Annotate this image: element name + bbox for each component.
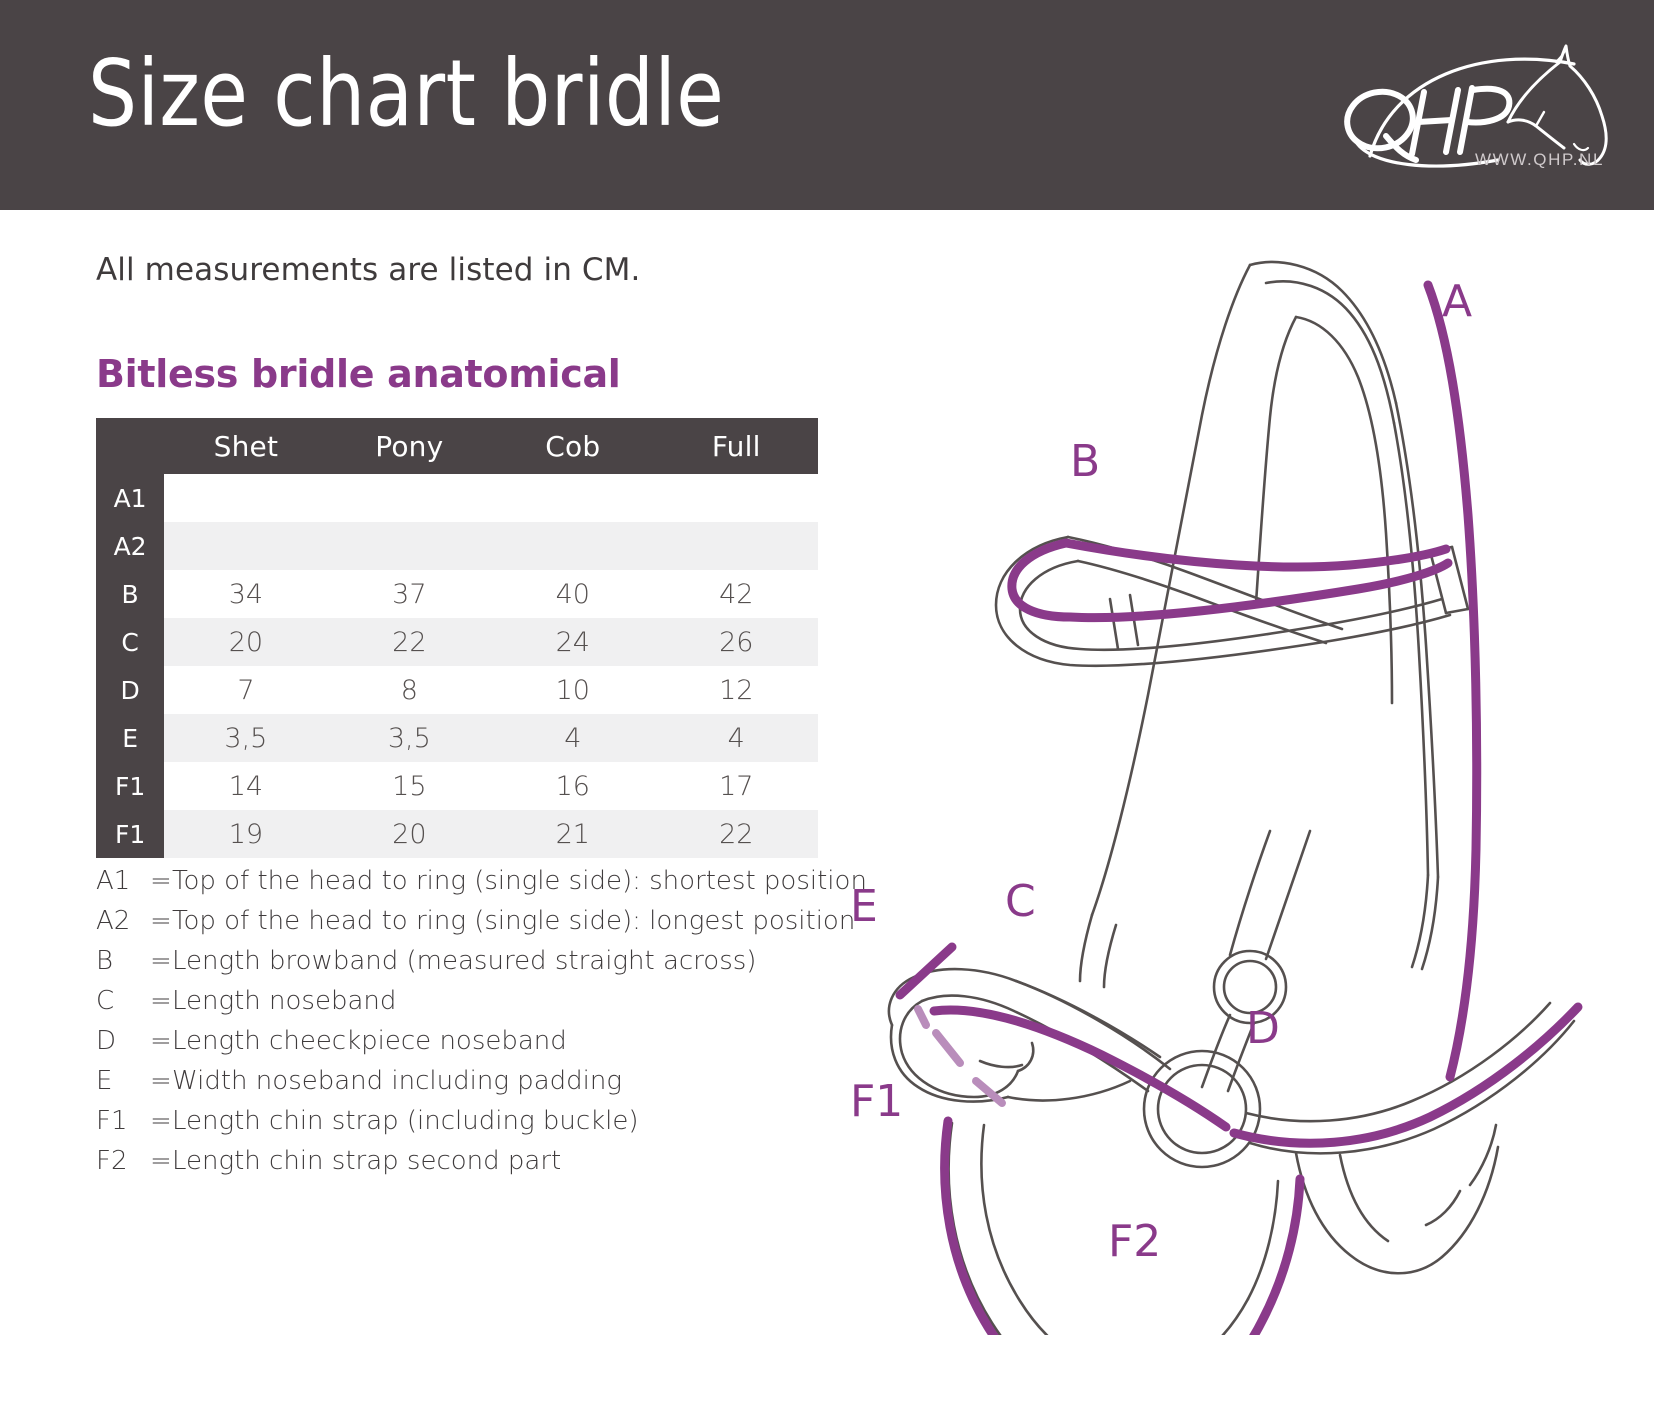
- table-header: Shet Pony Cob Full: [96, 418, 818, 474]
- legend-key: B: [96, 946, 150, 976]
- diagram-label-c: C: [1005, 880, 1036, 924]
- bridle-diagram: A B C D E F1 F2: [830, 225, 1630, 1335]
- page-title: Size chart bridle: [88, 46, 724, 143]
- diagram-label-b: B: [1070, 440, 1100, 484]
- cell-c-full: 26: [655, 618, 819, 666]
- cell-b-shet: 34: [164, 570, 327, 618]
- page-header: Size chart bridle: [0, 0, 1654, 210]
- table-row: F1 14 15 16 17: [96, 762, 818, 810]
- cell-f2-pony: 20: [328, 810, 491, 858]
- cell-c-shet: 20: [164, 618, 327, 666]
- row-label-a1: A1: [96, 474, 164, 522]
- legend-key: A2: [96, 906, 150, 936]
- legend-item: E = Width noseband including padding: [96, 1066, 856, 1106]
- section-title: Bitless bridle anatomical: [96, 352, 621, 396]
- cell-a1-pony: [328, 474, 491, 522]
- column-header-full: Full: [655, 418, 819, 474]
- table-row: D 7 8 10 12: [96, 666, 818, 714]
- table-row: B 34 37 40 42: [96, 570, 818, 618]
- diagram-label-e: E: [850, 885, 878, 929]
- cell-a2-shet: [164, 522, 327, 570]
- legend-text: Length cheeckpiece noseband: [172, 1026, 856, 1056]
- cell-f1-full: 17: [655, 762, 819, 810]
- measure-line-a: [1428, 285, 1477, 1077]
- table-row: C 20 22 24 26: [96, 618, 818, 666]
- legend-equals: =: [150, 1146, 172, 1176]
- cell-d-pony: 8: [328, 666, 491, 714]
- legend-item: A1 = Top of the head to ring (single sid…: [96, 866, 856, 906]
- legend-equals: =: [150, 906, 172, 936]
- cell-b-pony: 37: [328, 570, 491, 618]
- legend-item: D = Length cheeckpiece noseband: [96, 1026, 856, 1066]
- cell-b-full: 42: [655, 570, 819, 618]
- cell-f2-shet: 19: [164, 810, 327, 858]
- cell-a2-full: [655, 522, 819, 570]
- legend-text: Length noseband: [172, 986, 856, 1016]
- padding-dashes: [918, 1009, 1002, 1103]
- column-header-cob: Cob: [491, 418, 654, 474]
- measure-line-b-left: [1012, 543, 1070, 617]
- cell-a1-cob: [491, 474, 654, 522]
- legend-list: A1 = Top of the head to ring (single sid…: [96, 866, 856, 1186]
- legend-equals: =: [150, 1026, 172, 1056]
- legend-item: C = Length noseband: [96, 986, 856, 1026]
- measurements-note: All measurements are listed in CM.: [96, 252, 640, 288]
- table-header-row: Shet Pony Cob Full: [96, 418, 818, 474]
- cell-f1-cob: 16: [491, 762, 654, 810]
- legend-text: Top of the head to ring (single side): s…: [172, 866, 867, 896]
- legend-equals: =: [150, 866, 172, 896]
- table-body: A1 A2 B 34 37 40 42 C: [96, 474, 818, 858]
- table-row: A1: [96, 474, 818, 522]
- cell-b-cob: 40: [491, 570, 654, 618]
- legend-item: F2 = Length chin strap second part: [96, 1146, 856, 1186]
- cell-e-shet: 3,5: [164, 714, 327, 762]
- legend-item: A2 = Top of the head to ring (single sid…: [96, 906, 856, 946]
- column-header-shet: Shet: [164, 418, 327, 474]
- legend-key: F2: [96, 1146, 150, 1176]
- cell-c-pony: 22: [328, 618, 491, 666]
- measure-line-f1: [945, 1121, 1134, 1335]
- bridle-outline-group: [889, 262, 1574, 1335]
- cell-f1-shet: 14: [164, 762, 327, 810]
- table-row: F1 19 20 21 22: [96, 810, 818, 858]
- cell-e-full: 4: [655, 714, 819, 762]
- legend-text: Length chin strap (including buckle): [172, 1106, 856, 1136]
- legend-text: Length browband (measured straight acros…: [172, 946, 856, 976]
- cell-d-shet: 7: [164, 666, 327, 714]
- legend-equals: =: [150, 986, 172, 1016]
- legend-item: B = Length browband (measured straight a…: [96, 946, 856, 986]
- legend-key: A1: [96, 866, 150, 896]
- legend-key: D: [96, 1026, 150, 1056]
- cell-f2-full: 22: [655, 810, 819, 858]
- cell-d-full: 12: [655, 666, 819, 714]
- cell-e-pony: 3,5: [328, 714, 491, 762]
- cell-a1-shet: [164, 474, 327, 522]
- legend-key: E: [96, 1066, 150, 1096]
- cell-a2-cob: [491, 522, 654, 570]
- legend-item: F1 = Length chin strap (including buckle…: [96, 1106, 856, 1146]
- table-row: E 3,5 3,5 4 4: [96, 714, 818, 762]
- legend-key: F1: [96, 1106, 150, 1136]
- legend-equals: =: [150, 1066, 172, 1096]
- legend-text: Width noseband including padding: [172, 1066, 856, 1096]
- cell-e-cob: 4: [491, 714, 654, 762]
- measurement-highlight-group: [830, 225, 1578, 1335]
- cell-c-cob: 24: [491, 618, 654, 666]
- size-chart-table: Shet Pony Cob Full A1 A2 B: [96, 418, 818, 858]
- diagram-label-f2: F2: [1108, 1220, 1161, 1264]
- cell-a1-full: [655, 474, 819, 522]
- table-corner-cell: [96, 418, 164, 474]
- row-label-f1: F1: [96, 762, 164, 810]
- column-header-pony: Pony: [328, 418, 491, 474]
- diagram-label-d: D: [1246, 1007, 1280, 1051]
- cell-a2-pony: [328, 522, 491, 570]
- qhp-logo: WWW.QHP.NL: [1312, 38, 1632, 178]
- legend-text: Length chin strap second part: [172, 1146, 856, 1176]
- diagram-label-a: A: [1442, 280, 1472, 324]
- legend-equals: =: [150, 946, 172, 976]
- row-label-f2: F1: [96, 810, 164, 858]
- cell-f1-pony: 15: [328, 762, 491, 810]
- row-label-c: C: [96, 618, 164, 666]
- size-chart-page: Size chart bridle: [0, 0, 1654, 1418]
- row-label-e: E: [96, 714, 164, 762]
- bridle-diagram-svg: [830, 225, 1630, 1335]
- measure-tick-e: [900, 947, 952, 995]
- diagram-label-f1: F1: [850, 1080, 903, 1124]
- row-label-a2: A2: [96, 522, 164, 570]
- row-label-d: D: [96, 666, 164, 714]
- legend-text: Top of the head to ring (single side): l…: [172, 906, 856, 936]
- table-row: A2: [96, 522, 818, 570]
- cell-f2-cob: 21: [491, 810, 654, 858]
- measure-line-b-top: [1066, 543, 1446, 567]
- logo-url-text: WWW.QHP.NL: [1475, 150, 1604, 170]
- row-label-b: B: [96, 570, 164, 618]
- legend-key: C: [96, 986, 150, 1016]
- cell-d-cob: 10: [491, 666, 654, 714]
- legend-equals: =: [150, 1106, 172, 1136]
